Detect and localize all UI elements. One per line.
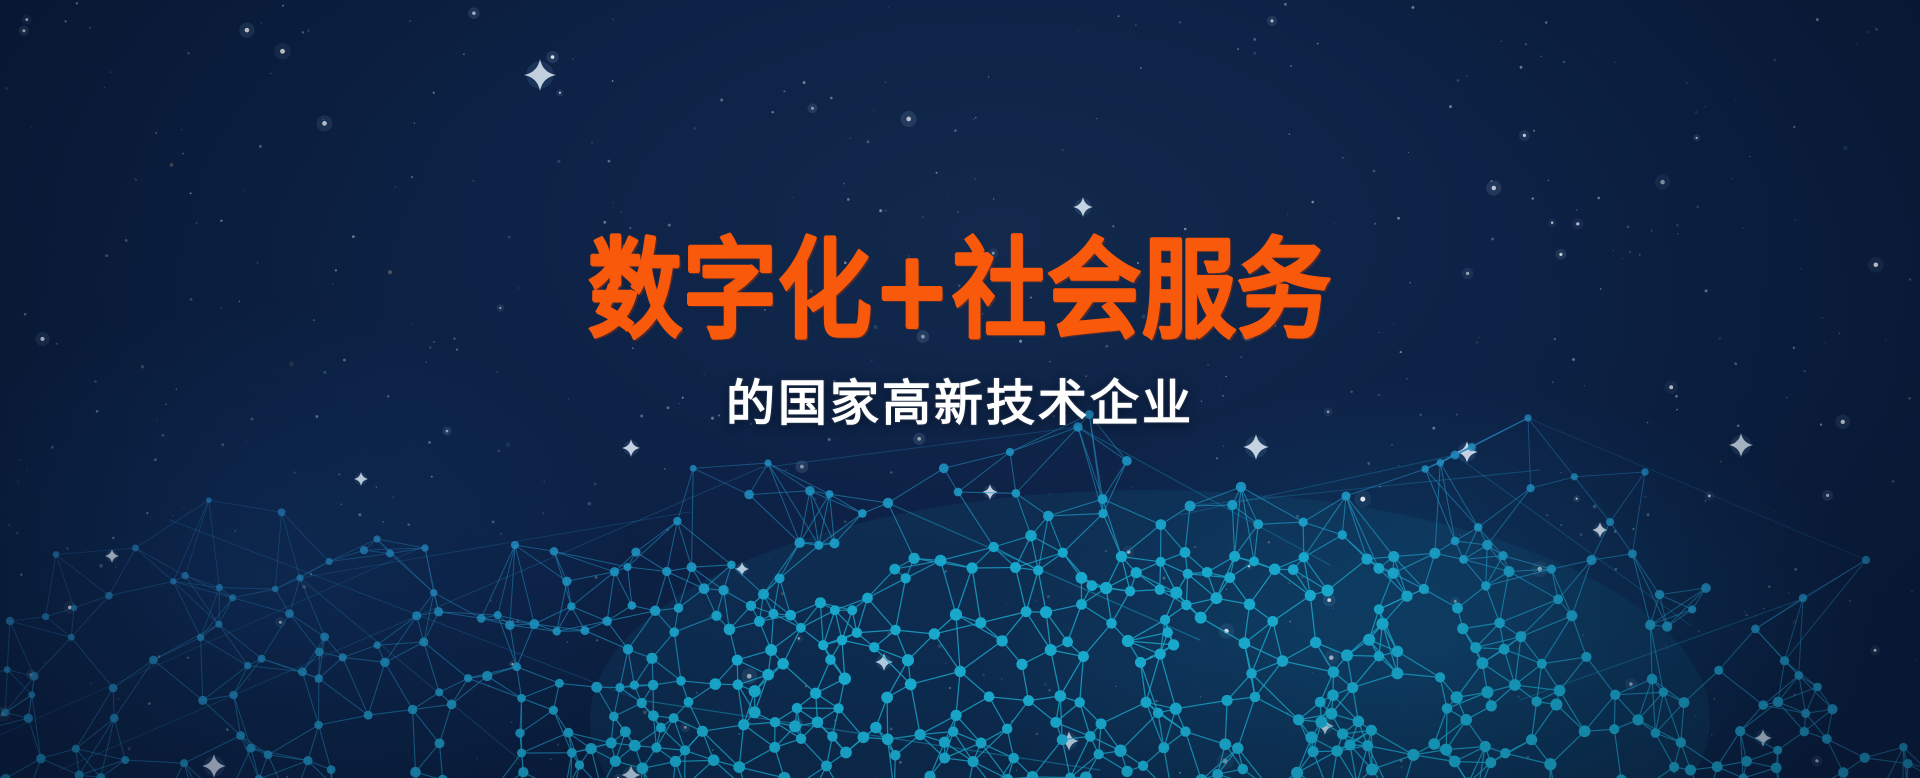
banner-title: 数字化+社会服务: [0, 232, 1920, 349]
banner-text-block: 数字化+社会服务 的国家高新技术企业: [0, 232, 1920, 431]
banner-subtitle: 的国家高新技术企业: [0, 377, 1920, 431]
banner-root: 数字化+社会服务 的国家高新技术企业: [0, 0, 1920, 778]
